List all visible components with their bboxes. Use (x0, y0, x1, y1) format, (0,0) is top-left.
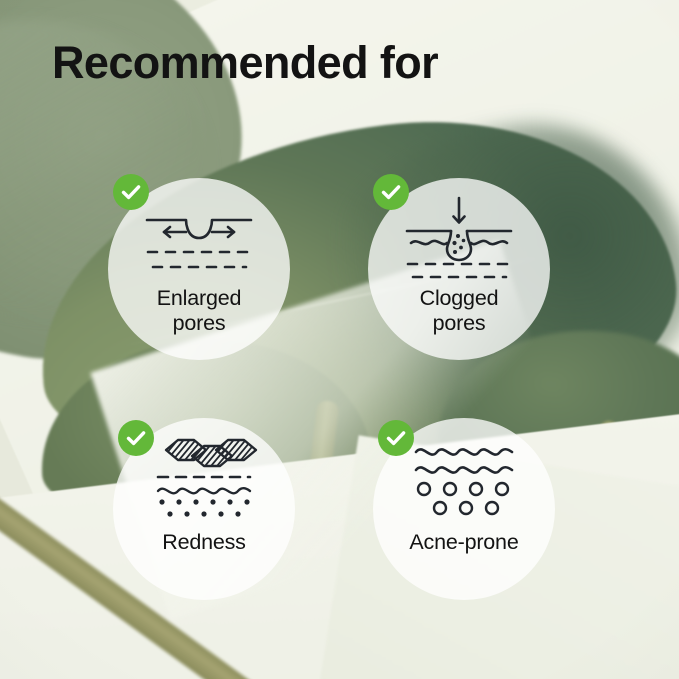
acne-prone-icon (408, 434, 520, 522)
check-badge-redness (118, 420, 154, 456)
card-label: Redness (162, 530, 245, 555)
enlarged-pore-icon (143, 204, 255, 282)
redness-hexagons-icon (148, 434, 260, 522)
background-vignette (0, 0, 679, 679)
badge-circle (113, 174, 149, 210)
badge-circle (373, 174, 409, 210)
check-badge-acne-prone (378, 420, 414, 456)
card-label: Clogged pores (420, 286, 499, 337)
page-title: Recommended for (52, 40, 438, 85)
clogged-pore-icon (403, 194, 515, 282)
recommended-for-panel: Recommended for En (0, 0, 679, 679)
check-badge-enlarged-pores (113, 174, 149, 210)
check-badge-clogged-pores (373, 174, 409, 210)
card-label: Enlarged pores (157, 286, 241, 337)
badge-circle (118, 420, 154, 456)
card-label: Acne-prone (409, 530, 518, 555)
badge-circle (378, 420, 414, 456)
